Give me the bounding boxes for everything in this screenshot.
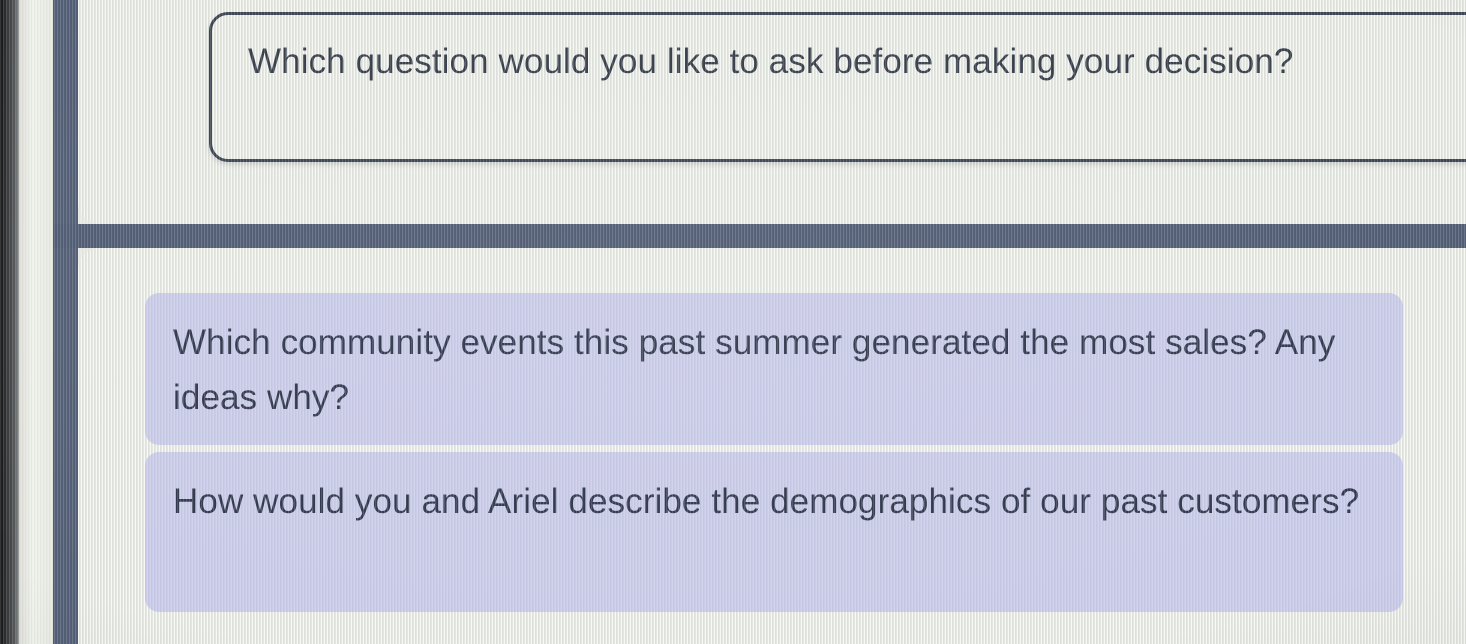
monitor-bezel-edge: [0, 0, 19, 644]
option-choice-2[interactable]: How would you and Ariel describe the dem…: [145, 452, 1403, 612]
screenshot-root: Which question would you like to ask bef…: [0, 0, 1466, 644]
prompt-panel: Which question would you like to ask bef…: [78, 0, 1466, 224]
prompt-question-text: Which question would you like to ask bef…: [248, 33, 1438, 90]
option-choice-2-label: How would you and Ariel describe the dem…: [173, 482, 1359, 521]
monitor-bezel-inner: [19, 0, 53, 644]
option-choice-1-label: Which community events this past summer …: [173, 323, 1335, 417]
left-rail-divider: [53, 0, 78, 644]
option-choice-1[interactable]: Which community events this past summer …: [145, 293, 1403, 445]
prompt-card: Which question would you like to ask bef…: [209, 12, 1466, 162]
horizontal-section-divider: [53, 224, 1466, 248]
